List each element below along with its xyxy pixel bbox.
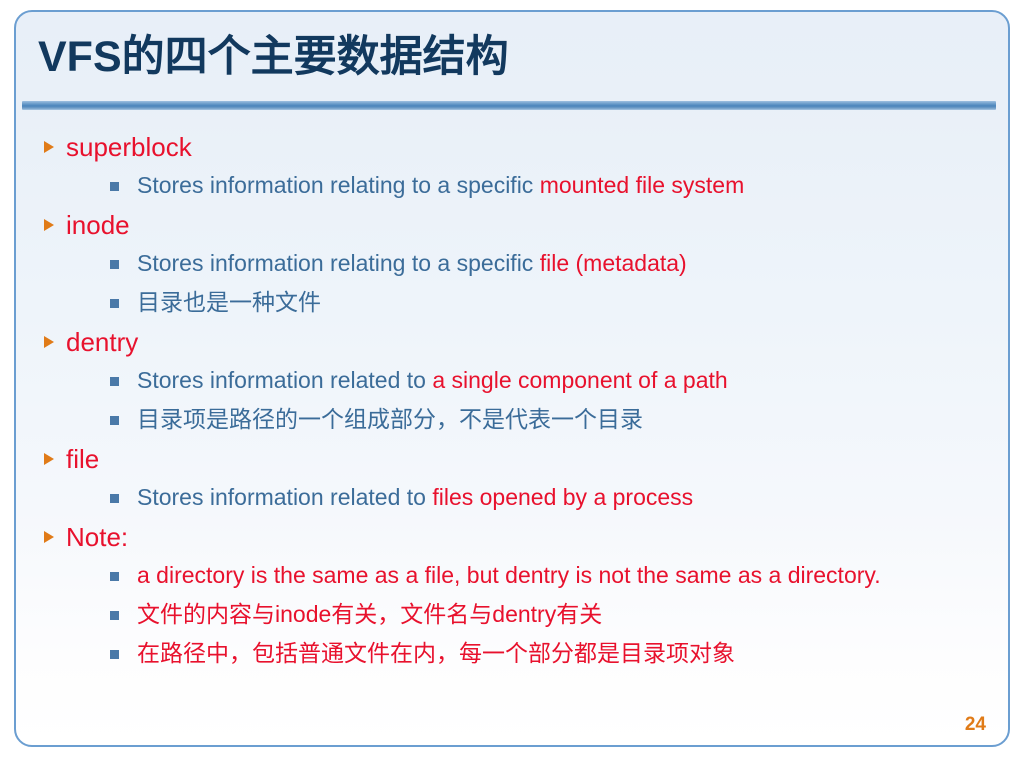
text-run: mounted file system bbox=[540, 172, 745, 198]
bullet-level2-text: 文件的内容与inode有关，文件名与dentry有关 bbox=[137, 595, 986, 634]
bullet-level1-label: superblock bbox=[66, 132, 192, 162]
triangle-marker-icon bbox=[44, 453, 54, 465]
bullet-level2: 文件的内容与inode有关，文件名与dentry有关 bbox=[66, 595, 986, 634]
square-marker-icon bbox=[110, 260, 119, 269]
text-run: Stores information related to bbox=[137, 484, 432, 510]
bullet-level2: Stores information related to a single c… bbox=[66, 361, 986, 400]
bullet-level1: superblockStores information relating to… bbox=[36, 128, 986, 205]
bullet-level2: Stores information relating to a specifi… bbox=[66, 166, 986, 205]
square-marker-icon bbox=[110, 611, 119, 620]
bullet-level2-text: 目录项是路径的一个组成部分，不是代表一个目录 bbox=[137, 400, 986, 439]
bullet-level2: 目录也是一种文件 bbox=[66, 283, 986, 322]
bullet-level2-text: Stores information related to a single c… bbox=[137, 361, 986, 400]
text-run: Stores information relating to a specifi… bbox=[137, 172, 540, 198]
triangle-marker-icon bbox=[44, 219, 54, 231]
bullet-level2: Stores information related to files open… bbox=[66, 478, 986, 517]
bullet-level1-label: file bbox=[66, 444, 99, 474]
page-title: VFS的四个主要数据结构 bbox=[38, 35, 509, 80]
bullet-level2: a directory is the same as a file, but d… bbox=[66, 556, 986, 595]
presentation-slide: VFS的四个主要数据结构 superblockStores informatio… bbox=[0, 0, 1024, 768]
bullet-level1: Note:a directory is the same as a file, … bbox=[36, 518, 986, 673]
sub-bullet-list: a directory is the same as a file, but d… bbox=[66, 556, 986, 673]
square-marker-icon bbox=[110, 299, 119, 308]
square-marker-icon bbox=[110, 650, 119, 659]
triangle-marker-icon bbox=[44, 336, 54, 348]
bullet-level1: fileStores information related to files … bbox=[36, 440, 986, 517]
text-run: files opened by a process bbox=[432, 484, 693, 510]
bullet-level2: 目录项是路径的一个组成部分，不是代表一个目录 bbox=[66, 400, 986, 439]
sub-bullet-list: Stores information related to files open… bbox=[66, 478, 986, 517]
slide-body: superblockStores information relating to… bbox=[36, 128, 986, 674]
text-run: file (metadata) bbox=[540, 250, 687, 276]
bullet-level1: dentryStores information related to a si… bbox=[36, 323, 986, 439]
text-run: a directory is the same as a file, but d… bbox=[137, 562, 881, 588]
bullet-level2-text: 在路径中，包括普通文件在内，每一个部分都是目录项对象 bbox=[137, 634, 986, 673]
square-marker-icon bbox=[110, 377, 119, 386]
text-run: 目录项是路径的一个组成部分，不是代表一个目录 bbox=[137, 406, 643, 432]
text-run: Stores information relating to a specifi… bbox=[137, 250, 540, 276]
text-run: Stores information related to bbox=[137, 367, 432, 393]
bullet-list: superblockStores information relating to… bbox=[36, 128, 986, 673]
sub-bullet-list: Stores information related to a single c… bbox=[66, 361, 986, 439]
square-marker-icon bbox=[110, 416, 119, 425]
bullet-level2-text: 目录也是一种文件 bbox=[137, 283, 986, 322]
text-run: a single component of a path bbox=[432, 367, 727, 393]
bullet-level1-label: dentry bbox=[66, 327, 138, 357]
square-marker-icon bbox=[110, 572, 119, 581]
bullet-level2-text: Stores information relating to a specifi… bbox=[137, 166, 982, 205]
bullet-level2-text: Stores information relating to a specifi… bbox=[137, 244, 986, 283]
title-divider bbox=[22, 101, 996, 110]
bullet-level1-label: Note: bbox=[66, 522, 128, 552]
slide-number: 24 bbox=[965, 714, 986, 736]
triangle-marker-icon bbox=[44, 141, 54, 153]
square-marker-icon bbox=[110, 182, 119, 191]
sub-bullet-list: Stores information relating to a specifi… bbox=[66, 166, 986, 205]
bullet-level2: 在路径中，包括普通文件在内，每一个部分都是目录项对象 bbox=[66, 634, 986, 673]
text-run: 文件的内容与inode有关，文件名与dentry有关 bbox=[137, 601, 602, 627]
text-run: 目录也是一种文件 bbox=[137, 289, 321, 315]
bullet-level2: Stores information relating to a specifi… bbox=[66, 244, 986, 283]
triangle-marker-icon bbox=[44, 531, 54, 543]
bullet-level2-text: a directory is the same as a file, but d… bbox=[137, 556, 982, 595]
bullet-level2-text: Stores information related to files open… bbox=[137, 478, 986, 517]
title-area: VFS的四个主要数据结构 bbox=[38, 22, 978, 94]
bullet-level1: inodeStores information relating to a sp… bbox=[36, 206, 986, 322]
bullet-level1-label: inode bbox=[66, 210, 130, 240]
square-marker-icon bbox=[110, 494, 119, 503]
text-run: 在路径中，包括普通文件在内，每一个部分都是目录项对象 bbox=[137, 640, 735, 666]
sub-bullet-list: Stores information relating to a specifi… bbox=[66, 244, 986, 322]
